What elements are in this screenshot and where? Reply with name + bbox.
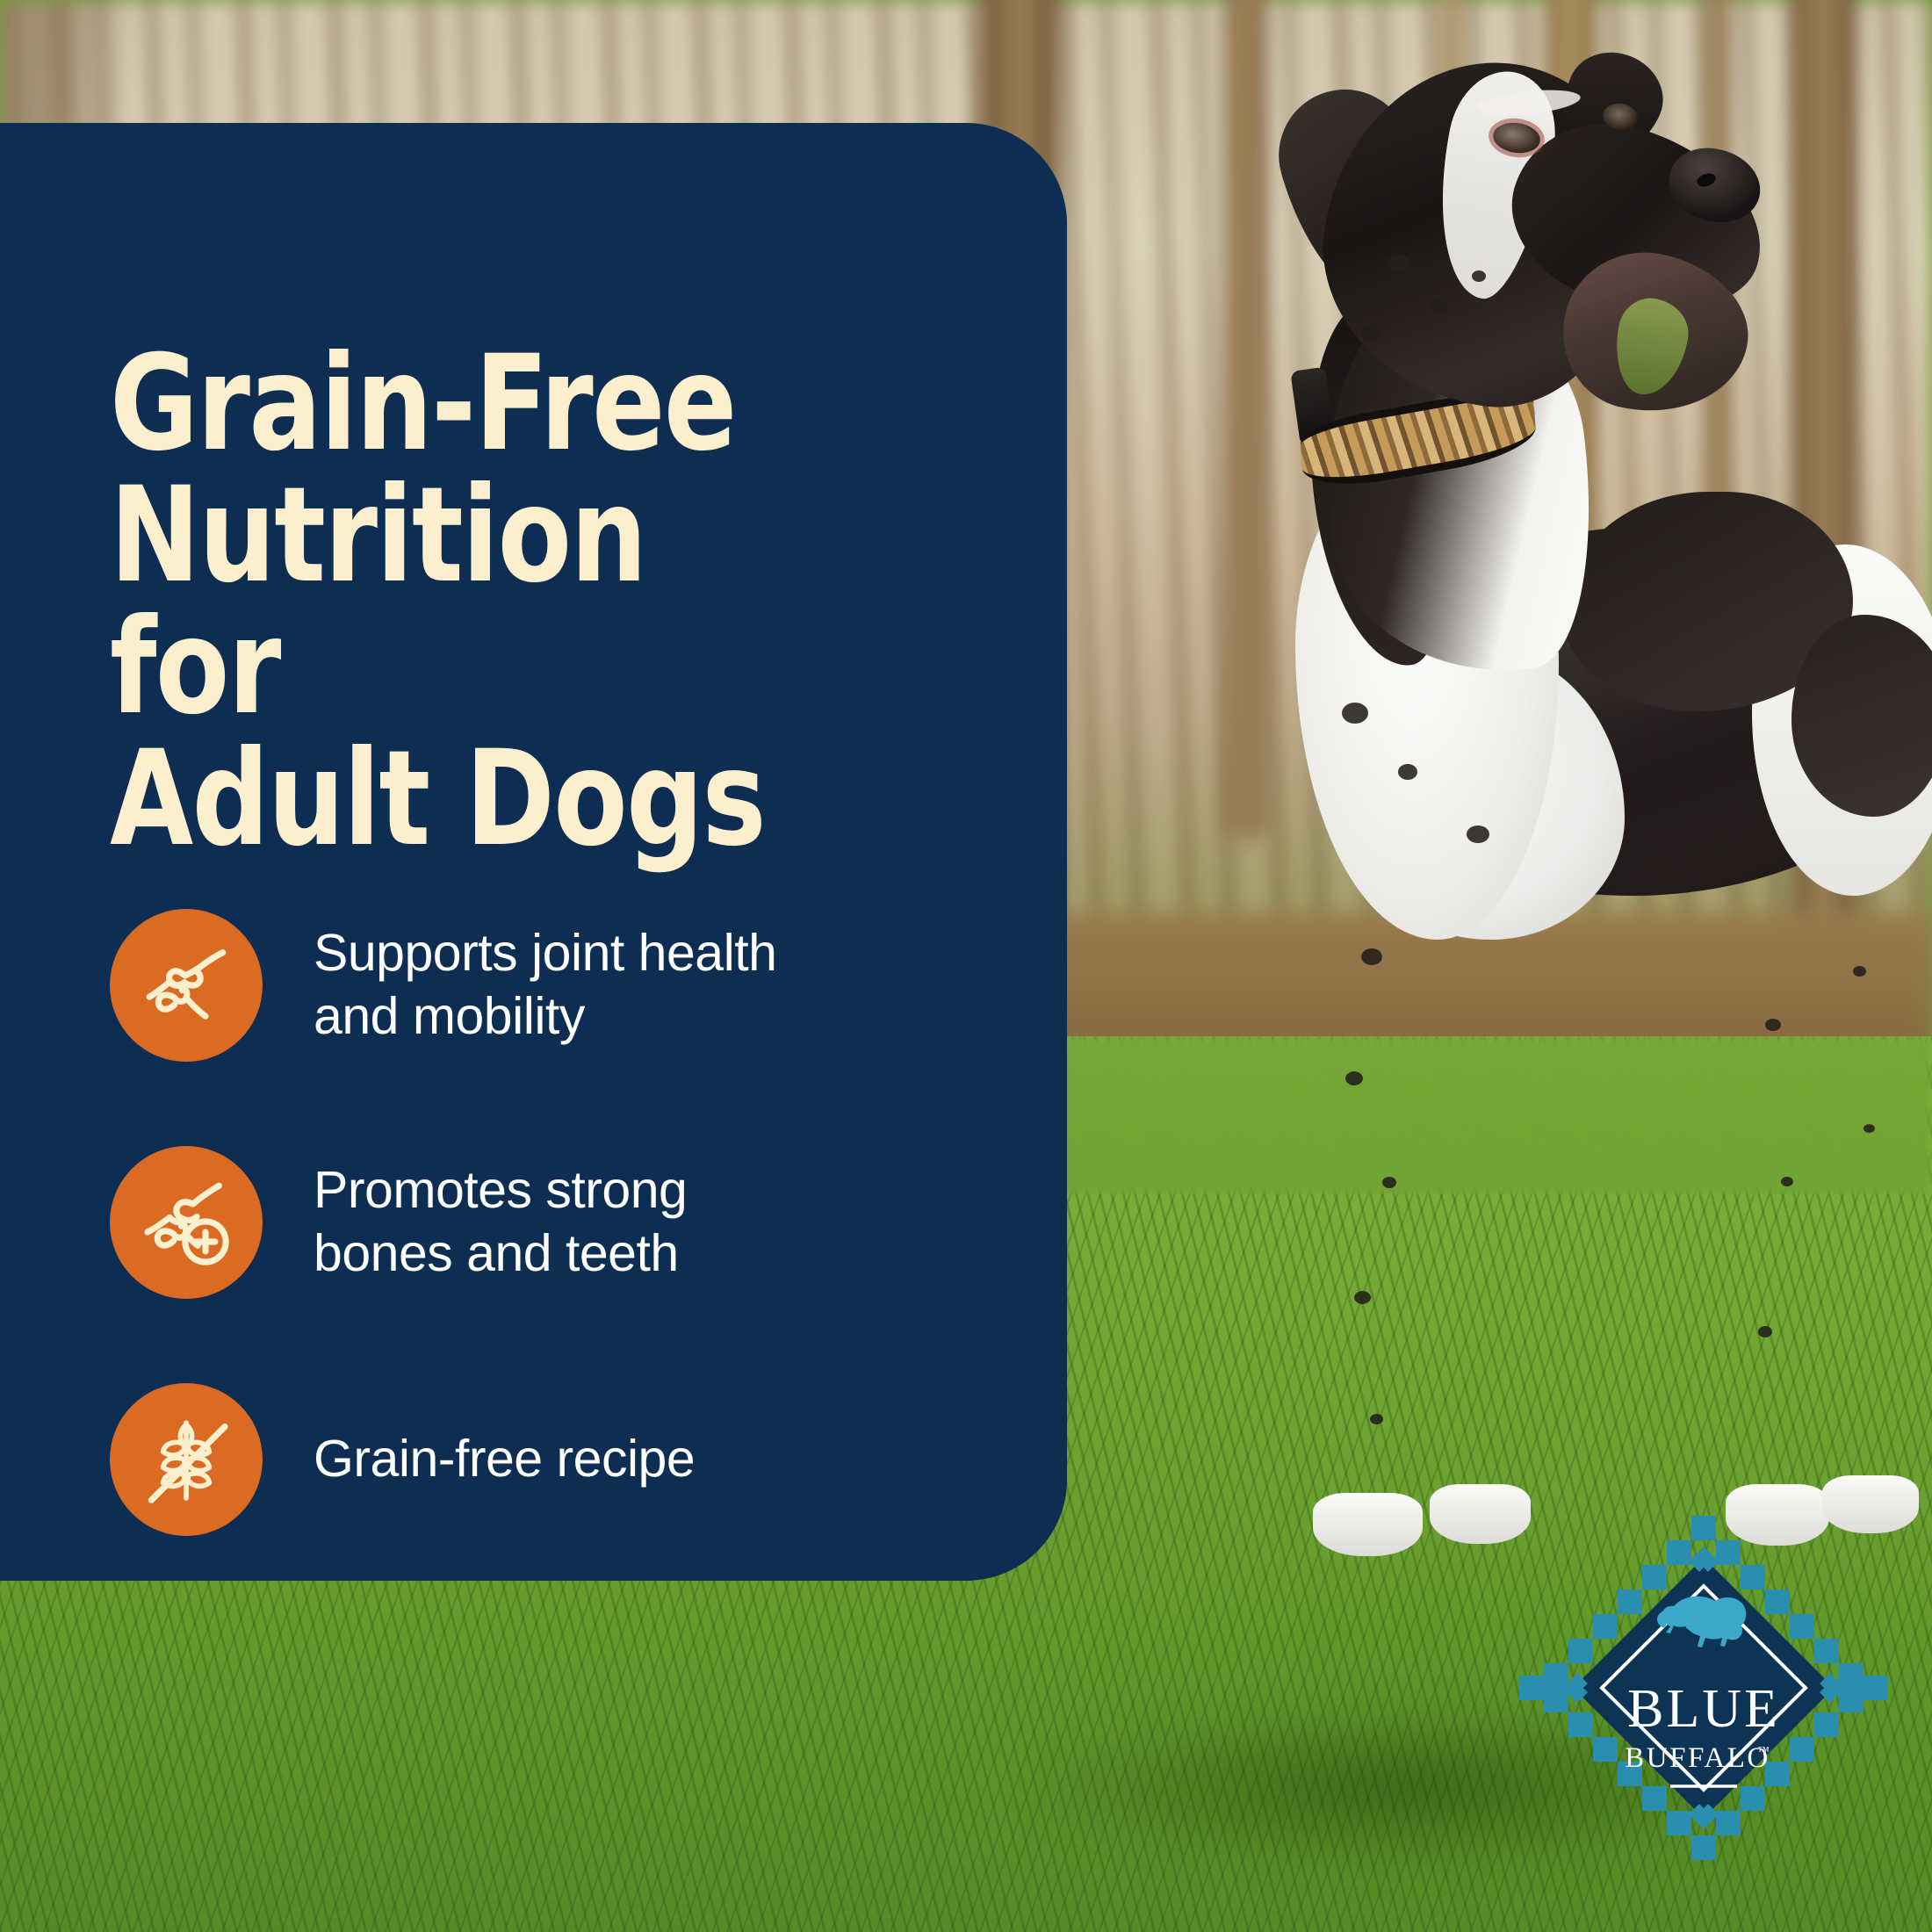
dog-front-leg-far <box>1435 869 1522 1519</box>
list-item: Grain-free recipe <box>110 1383 988 1536</box>
joint-health-icon <box>110 909 263 1062</box>
trademark-symbol: ™ <box>1757 1745 1770 1758</box>
no-grain-wheat-icon <box>110 1383 263 1536</box>
dog-paw <box>1430 1484 1531 1544</box>
list-item-label: Promotes strong bones and teeth <box>314 1159 687 1286</box>
list-item-label: Grain-free recipe <box>314 1428 695 1491</box>
list-item-label: Supports joint health and mobility <box>314 922 776 1049</box>
dog-rear-leg-near <box>1829 816 1910 1519</box>
logo-wordmark-secondary: BUFFALO <box>1625 1742 1770 1774</box>
benefits-list: Supports joint health and mobility <box>110 909 988 1536</box>
bone-plus-icon <box>110 1146 263 1299</box>
list-item: Supports joint health and mobility <box>110 909 988 1062</box>
dog-paw <box>1313 1493 1423 1556</box>
page-title: Grain-Free Nutrition for Adult Dogs <box>110 338 830 865</box>
info-panel: Grain-Free Nutrition for Adult Dogs Supp… <box>0 123 1067 1581</box>
list-item: Promotes strong bones and teeth <box>110 1146 988 1299</box>
dog-rear-leg-far <box>1739 825 1814 1519</box>
blue-buffalo-logo: BLUE BUFFALO ™ <box>1519 1503 1888 1872</box>
logo-wordmark-primary: BLUE <box>1627 1679 1780 1739</box>
